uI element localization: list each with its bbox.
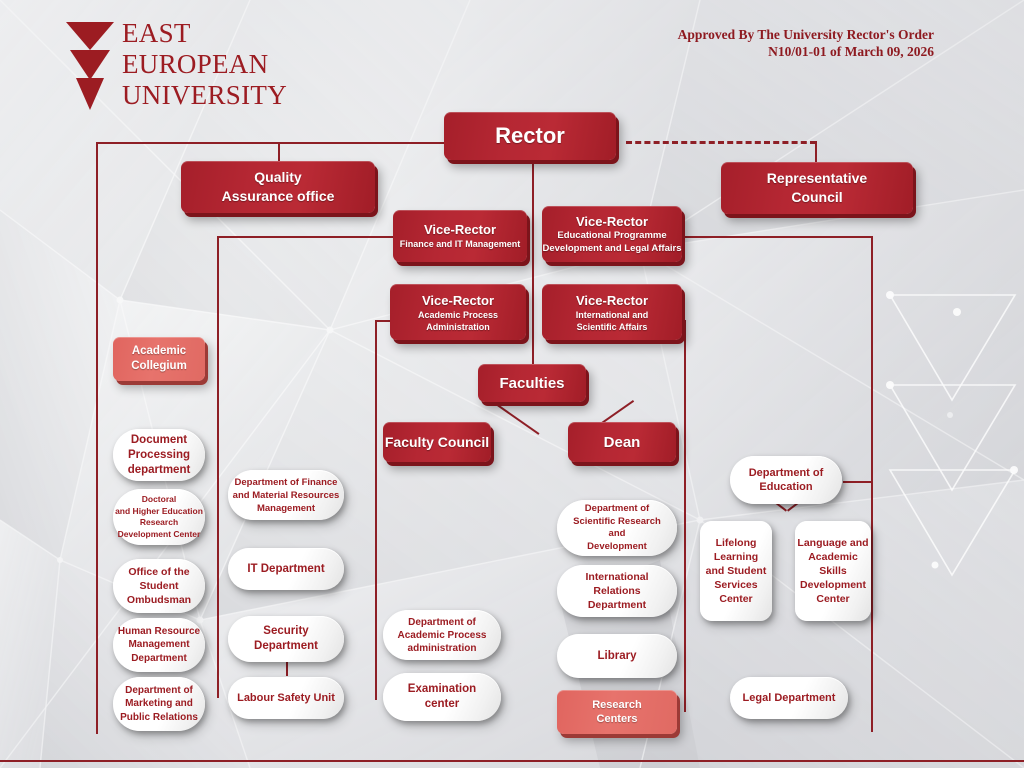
lasd-line-2: Academic [808, 550, 858, 564]
marketing-line-3: Public Relations [120, 711, 198, 725]
trunk-rector-office [96, 142, 98, 734]
llss-line-5: Center [719, 592, 752, 606]
llss-line-4: Services [714, 578, 757, 592]
node-labour-safety-unit[interactable]: Labour Safety Unit [228, 677, 344, 719]
node-research-centers[interactable]: Research Centers [557, 690, 677, 734]
logo-line-3: UNIVERSITY [122, 80, 287, 111]
node-academic-collegium[interactable]: Academic Collegium [113, 337, 205, 381]
llss-line-1: Lifelong [716, 536, 757, 550]
library-line-1: Library [598, 650, 637, 662]
logo-line-2: EUROPEAN [122, 49, 287, 80]
it-line-1: IT Department [247, 563, 324, 575]
node-representative-council[interactable]: Representative Council [721, 162, 913, 214]
ombudsman-line-2: Student [139, 579, 178, 593]
node-representative-line-2: Council [791, 188, 842, 207]
connector-rector-left [96, 142, 448, 144]
node-office-student-ombudsman[interactable]: Office of the Student Ombudsman [113, 559, 205, 613]
node-vice-rector-academic-process[interactable]: Vice-Rector Academic Process Administrat… [390, 284, 526, 340]
connector-security-labour [286, 660, 288, 676]
logo-line-1: EAST [122, 18, 287, 49]
node-rector-label: Rector [495, 123, 565, 149]
hr-line-1: Human Resource [118, 625, 200, 639]
doe-line-1: Department of [749, 466, 824, 481]
exam-line-1: Examination [408, 682, 476, 697]
node-quality-assurance-office[interactable]: Quality Assurance office [181, 161, 375, 213]
doc-proc-line-3: department [128, 463, 191, 478]
connector-representative-stub [815, 141, 817, 163]
security-line-1: Security [263, 624, 308, 639]
apa-line-2: Academic Process [398, 629, 487, 642]
finance-line-3: Management [257, 502, 315, 515]
trunk-finance-it [217, 236, 219, 698]
legal-line-1: Legal Department [743, 692, 836, 704]
node-language-academic-skills-development-center[interactable]: Language and Academic Skills Development… [795, 521, 871, 621]
doc-proc-line-2: Processing [128, 448, 190, 463]
node-vice-rector-finance-it[interactable]: Vice-Rector Finance and IT Management [393, 210, 527, 262]
node-vr-edu-sub-1: Educational Programme [557, 230, 666, 243]
srd-line-4: Development [587, 541, 647, 554]
logo-triangles-icon [64, 20, 116, 112]
node-department-of-education[interactable]: Department of Education [730, 456, 842, 504]
node-vr-academic-title: Vice-Rector [422, 292, 494, 309]
approval-line-2: N10/01-01 of March 09, 2026 [678, 43, 934, 60]
node-international-relations-department[interactable]: International Relations Department [557, 565, 677, 617]
doctoral-line-3: Research [140, 517, 178, 529]
node-vr-edu-title: Vice-Rector [576, 213, 648, 230]
node-faculties-label: Faculties [499, 375, 564, 392]
node-representative-line-1: Representative [767, 169, 867, 188]
doctoral-line-4: Development Center [118, 529, 201, 541]
node-lifelong-learning-student-services-center[interactable]: Lifelong Learning and Student Services C… [700, 521, 772, 621]
node-document-processing-department[interactable]: Document Processing department [113, 429, 205, 481]
labour-line-1: Labour Safety Unit [237, 692, 335, 704]
exam-line-2: center [425, 697, 460, 712]
node-it-department[interactable]: IT Department [228, 548, 344, 590]
bottom-rule [0, 760, 1024, 762]
connector-vr-edu-right [681, 236, 873, 238]
node-department-scientific-research-development[interactable]: Department of Scientific Research and De… [557, 500, 677, 556]
node-department-finance-material-resources[interactable]: Department of Finance and Material Resou… [228, 470, 344, 520]
research-centers-line-2: Centers [597, 712, 638, 726]
node-department-marketing-public-relations[interactable]: Department of Marketing and Public Relat… [113, 677, 205, 731]
node-vr-academic-sub-1: Academic Process [418, 309, 498, 321]
finance-line-2: and Material Resources [233, 489, 340, 502]
connector-quality-stub [278, 142, 280, 162]
node-vr-edu-sub-2: Development and Legal Affairs [542, 243, 681, 256]
doe-line-2: Education [759, 480, 812, 495]
node-academic-collegium-line-2: Collegium [131, 359, 187, 374]
node-vice-rector-international-scientific[interactable]: Vice-Rector International and Scientific… [542, 284, 682, 340]
node-quality-line-2: Assurance office [222, 187, 335, 206]
lasd-line-5: Center [816, 592, 849, 606]
node-dean-label: Dean [604, 434, 641, 451]
trunk-academic-process [375, 320, 377, 700]
node-rector[interactable]: Rector [444, 112, 616, 160]
ird-line-1: International [585, 570, 648, 584]
node-doctoral-research-development-center[interactable]: Doctoral and Higher Education Research D… [113, 489, 205, 545]
ird-line-2: Relations [593, 584, 640, 598]
node-faculty-council[interactable]: Faculty Council [383, 422, 491, 462]
node-dean[interactable]: Dean [568, 422, 676, 462]
ird-line-3: Department [588, 598, 646, 612]
trunk-educational-programme [871, 236, 873, 732]
node-vice-rector-educational-programme[interactable]: Vice-Rector Educational Programme Develo… [542, 206, 682, 262]
node-vr-academic-sub-2: Administration [426, 321, 490, 333]
connector-rector-representative-dashed [626, 141, 816, 144]
srd-line-3: and [609, 528, 626, 541]
node-vr-finance-sub-1: Finance and IT Management [400, 238, 521, 251]
research-centers-line-1: Research [592, 698, 642, 712]
node-library[interactable]: Library [557, 634, 677, 678]
doctoral-line-1: Doctoral [142, 494, 176, 506]
node-quality-line-1: Quality [254, 168, 301, 187]
node-faculty-council-label: Faculty Council [385, 434, 489, 450]
node-department-academic-process-administration[interactable]: Department of Academic Process administr… [383, 610, 501, 660]
node-security-department[interactable]: Security Department [228, 616, 344, 662]
approval-note: Approved By The University Rector's Orde… [678, 26, 934, 60]
hr-line-3: Department [131, 652, 187, 666]
marketing-line-1: Department of [125, 684, 193, 698]
lasd-line-1: Language and [797, 536, 868, 550]
org-chart-canvas: EAST EUROPEAN UNIVERSITY Approved By The… [0, 0, 1024, 768]
security-line-2: Department [254, 639, 318, 654]
srd-line-1: Department of [585, 503, 649, 516]
node-vr-intl-sub-1: International and [576, 309, 649, 321]
logo-wordmark: EAST EUROPEAN UNIVERSITY [122, 18, 287, 111]
node-vr-intl-sub-2: Scientific Affairs [577, 321, 648, 333]
doctoral-line-2: and Higher Education [115, 506, 203, 518]
llss-line-3: and Student [706, 564, 767, 578]
trunk-international-scientific [684, 320, 686, 712]
marketing-line-2: Marketing and [125, 697, 193, 711]
node-vr-intl-title: Vice-Rector [576, 292, 648, 309]
connector-rector-down [532, 160, 534, 370]
node-examination-center[interactable]: Examination center [383, 673, 501, 721]
node-vr-finance-title: Vice-Rector [424, 221, 496, 238]
node-human-resource-management-department[interactable]: Human Resource Management Department [113, 618, 205, 672]
approval-line-1: Approved By The University Rector's Orde… [678, 26, 934, 43]
connector-education-trunk [843, 481, 873, 483]
node-legal-department[interactable]: Legal Department [730, 677, 848, 719]
llss-line-2: Learning [714, 550, 758, 564]
university-logo: EAST EUROPEAN UNIVERSITY [64, 20, 324, 112]
lasd-line-3: Skills [819, 564, 846, 578]
ombudsman-line-1: Office of the [128, 565, 189, 579]
finance-line-1: Department of Finance [235, 476, 338, 489]
node-faculties[interactable]: Faculties [478, 364, 586, 402]
srd-line-2: Scientific Research [573, 516, 661, 529]
connector-vr-finance-left [217, 236, 393, 238]
apa-line-1: Department of [408, 616, 476, 629]
hr-line-2: Management [128, 638, 189, 652]
ombudsman-line-3: Ombudsman [127, 593, 191, 607]
apa-line-3: administration [408, 642, 477, 655]
node-academic-collegium-line-1: Academic [132, 344, 186, 359]
lasd-line-4: Development [800, 578, 866, 592]
doc-proc-line-1: Document [131, 433, 187, 448]
